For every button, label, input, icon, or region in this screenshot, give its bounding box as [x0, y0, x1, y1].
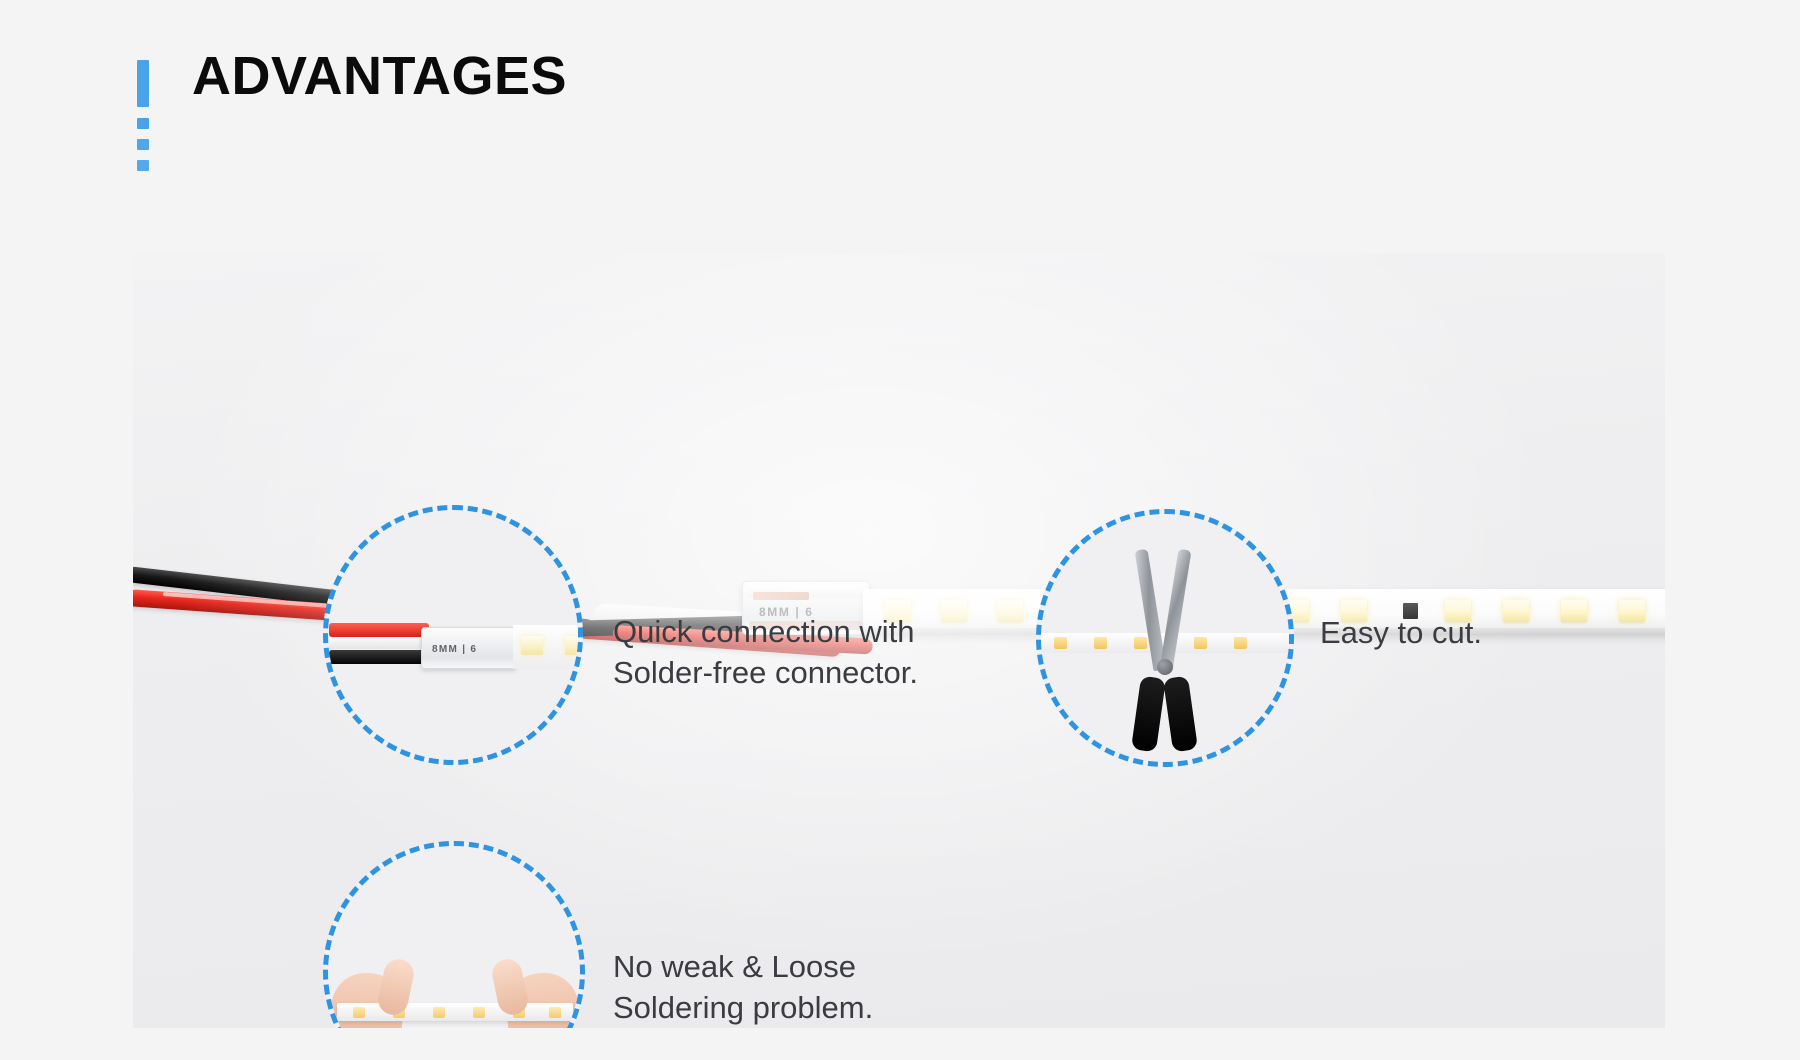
callout-label-cut: Easy to cut.: [1320, 612, 1482, 653]
zoom-black-wire: [329, 650, 429, 664]
zoom-led-strip: [337, 1003, 573, 1021]
accent-dot-1: [137, 118, 149, 129]
led-chip: [353, 1007, 365, 1018]
led-chip: [1619, 600, 1645, 622]
led-chip: [941, 600, 967, 622]
callout-label-connector: Quick connection with Solder-free connec…: [613, 611, 918, 693]
product-photo-panel: 8MM | 6 24V- 24V+ ✂ 24V- 24V+: [133, 253, 1665, 1028]
callout-label-bend: No weak & Loose Soldering problem.: [613, 946, 873, 1028]
led-chip: [433, 1007, 445, 1018]
accent-dot-2: [137, 139, 149, 150]
page-title: ADVANTAGES: [192, 48, 567, 105]
callout-photo-scissors: [1036, 509, 1294, 767]
zoom-white-sheath: [329, 637, 429, 649]
callout-circle-connector: 8MM | 6: [323, 505, 583, 765]
led-chip: [1194, 637, 1207, 649]
scissor-handle: [1131, 676, 1166, 753]
accent-dot-3: [137, 160, 149, 171]
connector-pins: [753, 592, 809, 600]
accent-mark-icon: [137, 60, 149, 171]
led-chip: [1134, 637, 1147, 649]
zoom-led-strip: [513, 625, 583, 669]
scissor-pivot: [1157, 659, 1173, 675]
led-chip: [1054, 637, 1067, 649]
led-chip: [1561, 600, 1587, 622]
led-chip: [473, 1007, 485, 1018]
zoom-connector-marking: 8MM | 6: [432, 644, 477, 655]
led-chip: [1503, 600, 1529, 622]
led-chip: [1234, 637, 1247, 649]
accent-bar: [137, 60, 149, 107]
callout-circle-cut: [1036, 509, 1294, 767]
page-header: ADVANTAGES: [0, 0, 1800, 215]
led-chip: [521, 636, 543, 655]
led-chip: [549, 1007, 561, 1018]
led-chip: [997, 600, 1023, 622]
advantages-page: ADVANTAGES 8MM | 6: [0, 0, 1800, 1060]
scissor-handle: [1163, 676, 1198, 753]
callout-photo-connector: 8MM | 6: [323, 505, 583, 765]
zoom-red-wire: [329, 623, 429, 637]
zoom-connector: 8MM | 6: [421, 627, 517, 669]
led-chip: [565, 636, 583, 655]
led-chip: [1094, 637, 1107, 649]
